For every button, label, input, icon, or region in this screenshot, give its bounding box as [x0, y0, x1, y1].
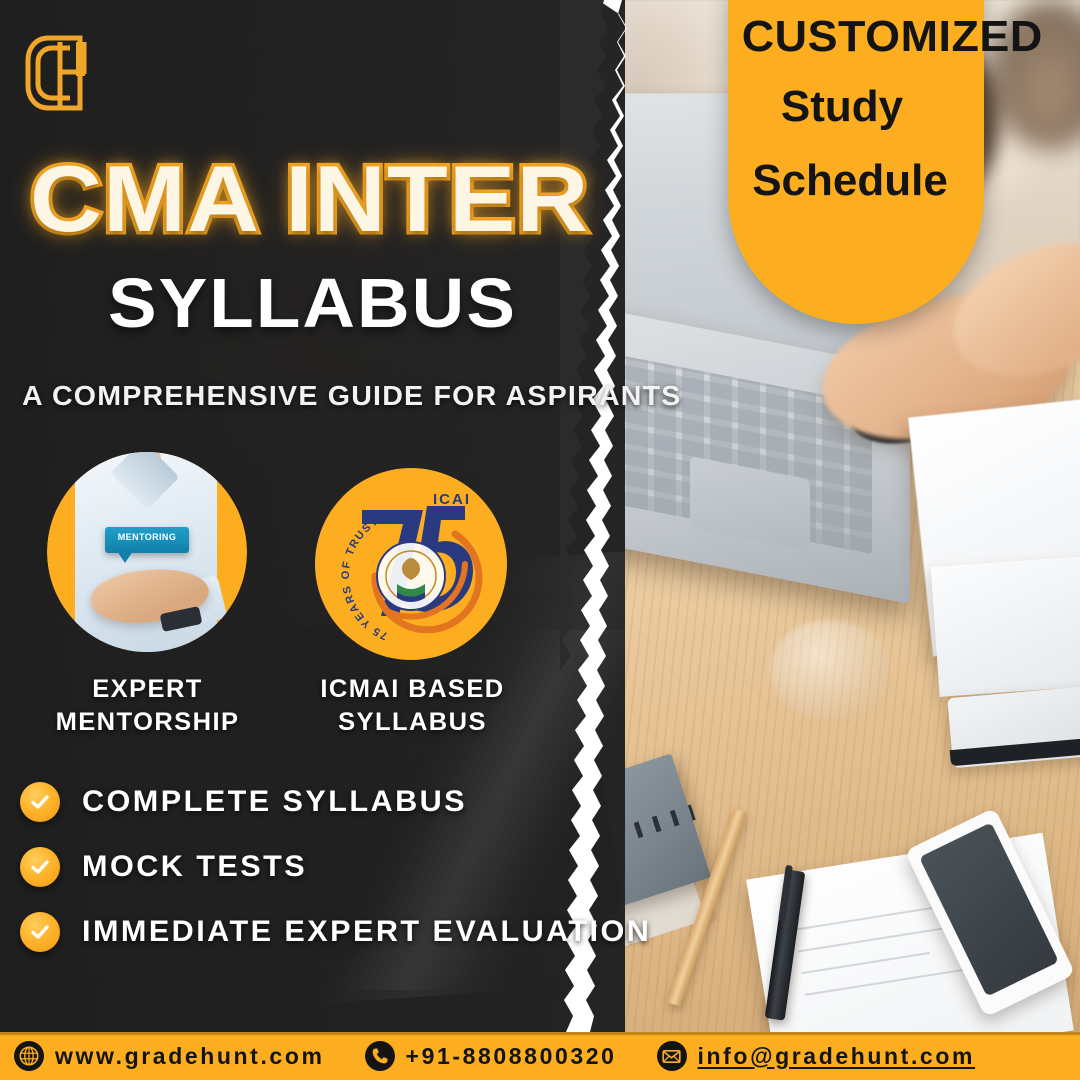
footer-top-border: [0, 1032, 1080, 1035]
list-item: MOCK TESTS: [20, 847, 640, 887]
phone-icon: [365, 1041, 395, 1071]
bullet-label: MOCK TESTS: [82, 850, 307, 884]
feature-bullet-list: COMPLETE SYLLABUS MOCK TESTS IMMEDIATE E…: [20, 782, 640, 977]
phone-text: +91-8808800320: [406, 1043, 617, 1070]
mentoring-hand-icon: MENTORING: [47, 452, 247, 652]
poster-canvas: CMA INTER SYLLABUS A COMPREHENSIVE GUIDE…: [0, 0, 1080, 1080]
footer-phone[interactable]: +91-8808800320: [365, 1041, 617, 1071]
check-circle-icon: [20, 912, 60, 952]
list-item: IMMEDIATE EXPERT EVALUATION: [20, 912, 640, 952]
badge-line-3: Schedule: [742, 156, 958, 206]
badge-line-1: CUSTOMIZED: [742, 12, 970, 62]
check-circle-icon: [20, 782, 60, 822]
page-tagline: A COMPREHENSIVE GUIDE FOR ASPIRANTS: [22, 380, 682, 412]
feature-caption-mentorship: EXPERT MENTORSHIP: [12, 673, 282, 739]
list-item: COMPLETE SYLLABUS: [20, 782, 640, 822]
check-circle-icon: [20, 847, 60, 887]
feature-expert-mentorship: MENTORING: [47, 452, 247, 652]
footer-email[interactable]: info@gradehunt.com: [657, 1041, 976, 1071]
photo-glass-highlight: [770, 620, 890, 720]
mentoring-tag-label: MENTORING: [105, 532, 189, 542]
email-text: info@gradehunt.com: [698, 1043, 976, 1070]
website-text: www.gradehunt.com: [55, 1043, 325, 1070]
envelope-icon: [657, 1041, 687, 1071]
feature-caption-line-1: ICMAI BASED: [282, 673, 542, 706]
bullet-label: COMPLETE SYLLABUS: [82, 785, 467, 819]
customized-study-schedule-badge: CUSTOMIZED Study Schedule: [728, 0, 984, 324]
feature-caption-syllabus: ICMAI BASED SYLLABUS: [282, 673, 542, 739]
badge-line-2: Study: [742, 82, 942, 132]
globe-icon: [14, 1041, 44, 1071]
feature-caption-line-2: MENTORSHIP: [12, 706, 282, 739]
contact-footer-bar: www.gradehunt.com +91-8808800320 info@gr…: [0, 1032, 1080, 1080]
bullet-label: IMMEDIATE EXPERT EVALUATION: [82, 915, 651, 949]
feature-icmai-syllabus: ICAI 75 YEARS OF TRUST: [315, 468, 507, 665]
feature-caption-line-2: SYLLABUS: [282, 706, 542, 739]
page-subtitle: SYLLABUS: [108, 268, 517, 338]
footer-website[interactable]: www.gradehunt.com: [14, 1041, 325, 1071]
icai-75-years-logo-icon: ICAI 75 YEARS OF TRUST: [315, 468, 507, 660]
page-title: CMA INTER: [30, 152, 589, 246]
gradehunt-gh-monogram-logo: [18, 28, 106, 118]
feature-caption-line-1: EXPERT: [12, 673, 282, 706]
icai-acronym-text: ICAI: [433, 491, 471, 508]
photo-paper-stack: [931, 553, 1080, 697]
